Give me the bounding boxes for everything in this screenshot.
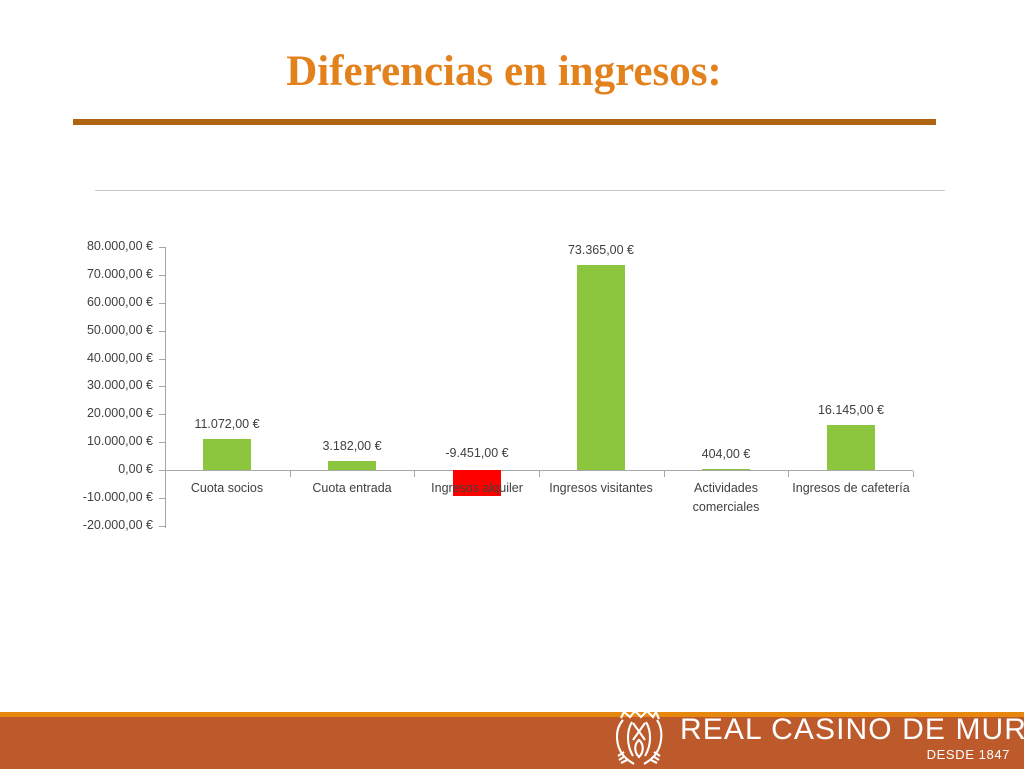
y-axis-tick	[159, 359, 165, 360]
bar[interactable]	[702, 469, 750, 470]
bar-data-label: 73.365,00 €	[539, 243, 663, 257]
y-axis-tick-label: -20.000,00 €	[61, 518, 153, 532]
bar[interactable]	[203, 439, 251, 470]
y-axis-tick	[159, 386, 165, 387]
y-axis-tick	[159, 331, 165, 332]
y-axis-tick	[159, 498, 165, 499]
y-axis-tick	[159, 303, 165, 304]
y-axis-tick	[159, 275, 165, 276]
x-axis-category-label: Ingresos alquiler	[415, 479, 539, 498]
x-axis-tick	[913, 471, 914, 477]
x-axis-category-label-line: Cuota socios	[165, 479, 289, 498]
x-axis-category-label-line: Ingresos visitantes	[539, 479, 663, 498]
bar-data-label: 404,00 €	[664, 447, 788, 461]
bar[interactable]	[328, 461, 376, 470]
bar-data-label: 3.182,00 €	[290, 439, 414, 453]
footer-brand-name: REAL CASINO DE MURCIA	[680, 714, 1010, 746]
x-axis-category-label: Ingresos visitantes	[539, 479, 663, 498]
y-axis-tick	[159, 247, 165, 248]
y-axis-tick-label: 10.000,00 €	[61, 434, 153, 448]
y-axis-tick-label: 40.000,00 €	[61, 351, 153, 365]
bar-data-label: -9.451,00 €	[415, 446, 539, 460]
x-axis-tick	[165, 471, 166, 477]
x-axis-category-label: Ingresos de cafetería	[789, 479, 913, 498]
casino-monogram-icon	[610, 706, 668, 768]
y-axis-tick-label: 0,00 €	[61, 462, 153, 476]
x-axis-category-label-line: Cuota entrada	[290, 479, 414, 498]
y-axis-tick-label: 60.000,00 €	[61, 295, 153, 309]
x-axis-tick	[788, 471, 789, 477]
x-axis-tick	[414, 471, 415, 477]
y-axis-tick-label: 20.000,00 €	[61, 406, 153, 420]
footer-since-text: DESDE 1847	[680, 747, 1010, 762]
x-axis-category-label: Cuota socios	[165, 479, 289, 498]
y-axis-tick	[159, 442, 165, 443]
x-axis-tick	[539, 471, 540, 477]
x-axis-category-label-line: comerciales	[664, 498, 788, 517]
bar[interactable]	[577, 265, 625, 470]
slide-canvas: Diferencias en ingresos: 80.000,00 €70.0…	[0, 0, 1024, 769]
x-axis-category-label: Actividadescomerciales	[664, 479, 788, 517]
y-axis-tick-label: -10.000,00 €	[61, 490, 153, 504]
bar-chart: 80.000,00 €70.000,00 €60.000,00 €50.000,…	[0, 0, 1024, 700]
x-axis-category-label-line: Ingresos alquiler	[415, 479, 539, 498]
x-axis-category-label-line: Ingresos de cafetería	[789, 479, 913, 498]
y-axis-tick-label: 30.000,00 €	[61, 378, 153, 392]
y-axis-tick-label: 70.000,00 €	[61, 267, 153, 281]
bar-data-label: 11.072,00 €	[165, 417, 289, 431]
y-axis-tick-label: 50.000,00 €	[61, 323, 153, 337]
x-axis-category-label: Cuota entrada	[290, 479, 414, 498]
y-axis-tick	[159, 526, 165, 527]
x-axis-category-label-line: Actividades	[664, 479, 788, 498]
bar[interactable]	[827, 425, 875, 470]
y-axis-tick	[159, 414, 165, 415]
x-axis-tick	[290, 471, 291, 477]
y-axis-tick-label: 80.000,00 €	[61, 239, 153, 253]
bar-data-label: 16.145,00 €	[789, 403, 913, 417]
x-axis-tick	[664, 471, 665, 477]
